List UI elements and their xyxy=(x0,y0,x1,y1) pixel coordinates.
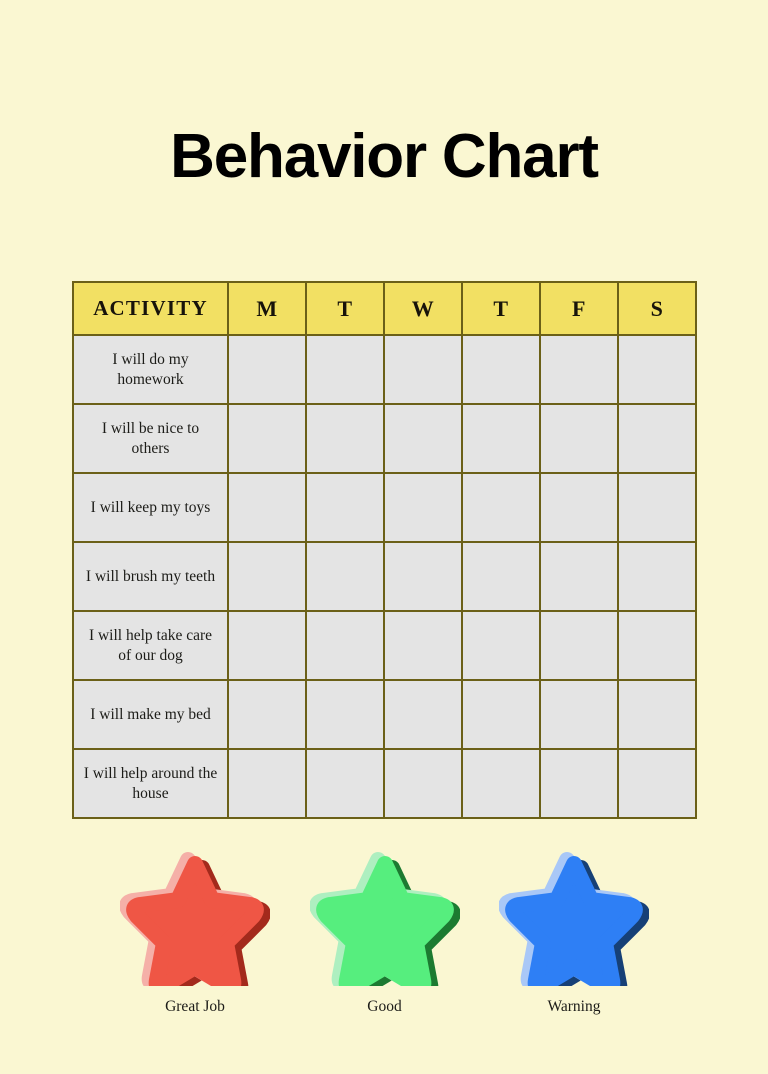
column-header-wednesday: W xyxy=(384,282,462,335)
mark-cell-mon[interactable] xyxy=(228,404,306,473)
mark-cell-tue[interactable] xyxy=(306,335,384,404)
mark-cell-fri[interactable] xyxy=(540,473,618,542)
mark-cell-sat[interactable] xyxy=(618,542,696,611)
table-row: I will be nice to others xyxy=(73,404,696,473)
mark-cell-thu[interactable] xyxy=(462,611,540,680)
star-icon xyxy=(499,846,649,986)
legend-label: Warning xyxy=(548,998,601,1016)
legend-label: Great Job xyxy=(165,998,225,1016)
legend: Great Job Good xyxy=(72,846,697,1016)
star-icon xyxy=(310,846,460,986)
mark-cell-thu[interactable] xyxy=(462,680,540,749)
mark-cell-thu[interactable] xyxy=(462,749,540,818)
activity-label: I will be nice to others xyxy=(73,404,228,473)
column-header-activity: ACTIVITY xyxy=(73,282,228,335)
mark-cell-mon[interactable] xyxy=(228,335,306,404)
star-icon-main-layer xyxy=(310,846,460,986)
table-row: I will make my bed xyxy=(73,680,696,749)
table-row: I will keep my toys xyxy=(73,473,696,542)
activity-label: I will make my bed xyxy=(73,680,228,749)
mark-cell-fri[interactable] xyxy=(540,749,618,818)
mark-cell-thu[interactable] xyxy=(462,473,540,542)
star-icon-main-layer xyxy=(120,846,270,986)
mark-cell-wed[interactable] xyxy=(384,473,462,542)
column-header-thursday: T xyxy=(462,282,540,335)
column-header-friday: F xyxy=(540,282,618,335)
activity-label: I will do my homework xyxy=(73,335,228,404)
column-header-saturday: S xyxy=(618,282,696,335)
mark-cell-sat[interactable] xyxy=(618,749,696,818)
table-row: I will brush my teeth xyxy=(73,542,696,611)
mark-cell-mon[interactable] xyxy=(228,749,306,818)
legend-label: Good xyxy=(367,998,401,1016)
legend-item-warning[interactable]: Warning xyxy=(499,846,649,1016)
mark-cell-fri[interactable] xyxy=(540,335,618,404)
page-title: Behavior Chart xyxy=(0,126,768,188)
mark-cell-wed[interactable] xyxy=(384,680,462,749)
table-row: I will help take care of our dog xyxy=(73,611,696,680)
mark-cell-tue[interactable] xyxy=(306,404,384,473)
mark-cell-tue[interactable] xyxy=(306,473,384,542)
legend-item-great-job[interactable]: Great Job xyxy=(120,846,270,1016)
mark-cell-wed[interactable] xyxy=(384,749,462,818)
activity-label: I will keep my toys xyxy=(73,473,228,542)
mark-cell-tue[interactable] xyxy=(306,680,384,749)
column-header-tuesday: T xyxy=(306,282,384,335)
mark-cell-thu[interactable] xyxy=(462,542,540,611)
table-body: I will do my homework I will be nice to … xyxy=(73,335,696,818)
mark-cell-wed[interactable] xyxy=(384,335,462,404)
behavior-table: ACTIVITY M T W T F S I will do my homewo… xyxy=(72,281,697,819)
activity-label: I will brush my teeth xyxy=(73,542,228,611)
mark-cell-mon[interactable] xyxy=(228,542,306,611)
activity-label: I will help take care of our dog xyxy=(73,611,228,680)
table-header: ACTIVITY M T W T F S xyxy=(73,282,696,335)
mark-cell-tue[interactable] xyxy=(306,542,384,611)
table-row: I will do my homework xyxy=(73,335,696,404)
behavior-chart-page: Behavior Chart ACTIVITY M T W T F S I wi… xyxy=(0,0,768,1074)
activity-label: I will help around the house xyxy=(73,749,228,818)
mark-cell-sat[interactable] xyxy=(618,611,696,680)
mark-cell-sat[interactable] xyxy=(618,473,696,542)
legend-item-good[interactable]: Good xyxy=(310,846,460,1016)
mark-cell-mon[interactable] xyxy=(228,680,306,749)
mark-cell-tue[interactable] xyxy=(306,749,384,818)
header-row: ACTIVITY M T W T F S xyxy=(73,282,696,335)
table-row: I will help around the house xyxy=(73,749,696,818)
mark-cell-sat[interactable] xyxy=(618,404,696,473)
mark-cell-fri[interactable] xyxy=(540,542,618,611)
star-icon-main-layer xyxy=(499,846,649,986)
mark-cell-mon[interactable] xyxy=(228,611,306,680)
mark-cell-fri[interactable] xyxy=(540,611,618,680)
mark-cell-sat[interactable] xyxy=(618,680,696,749)
mark-cell-fri[interactable] xyxy=(540,404,618,473)
mark-cell-tue[interactable] xyxy=(306,611,384,680)
column-header-monday: M xyxy=(228,282,306,335)
mark-cell-wed[interactable] xyxy=(384,611,462,680)
star-icon xyxy=(120,846,270,986)
mark-cell-sat[interactable] xyxy=(618,335,696,404)
mark-cell-wed[interactable] xyxy=(384,542,462,611)
mark-cell-fri[interactable] xyxy=(540,680,618,749)
mark-cell-thu[interactable] xyxy=(462,335,540,404)
mark-cell-thu[interactable] xyxy=(462,404,540,473)
mark-cell-mon[interactable] xyxy=(228,473,306,542)
mark-cell-wed[interactable] xyxy=(384,404,462,473)
